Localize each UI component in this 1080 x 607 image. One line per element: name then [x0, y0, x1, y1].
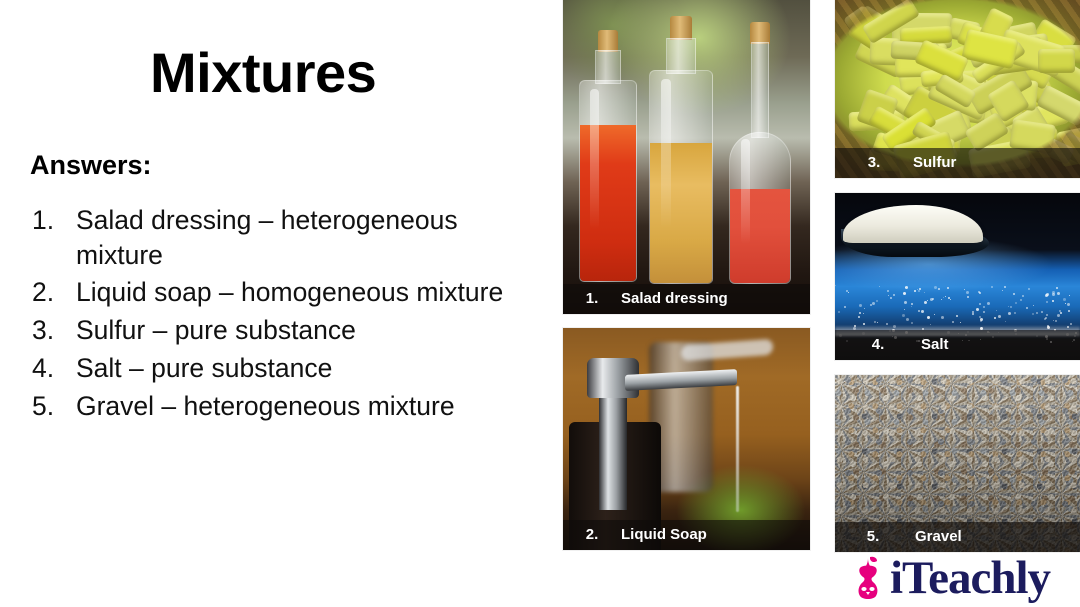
photo-salad-dressing: 1. Salad dressing [563, 0, 810, 314]
photo-caption: 4. Salt [835, 330, 1080, 360]
salad-dressing-image [563, 0, 810, 314]
caption-label: Salad dressing [621, 284, 810, 314]
photo-caption: 3. Sulfur [835, 148, 1080, 178]
page-title: Mixtures [150, 44, 376, 103]
photo-gravel: 5. Gravel [835, 375, 1080, 552]
list-item-label: Salt – pure substance [76, 351, 540, 386]
photo-caption: 2. Liquid Soap [563, 520, 810, 550]
caption-number: 2. [563, 520, 621, 550]
list-item-label: Liquid soap – homogeneous mixture [76, 275, 540, 310]
list-item-number: 4. [30, 351, 76, 386]
list-item-number: 3. [30, 313, 76, 348]
answers-list: 1. Salad dressing – heterogeneous mixtur… [30, 203, 540, 426]
list-item-label: Gravel – heterogeneous mixture [76, 389, 540, 424]
list-item-number: 2. [30, 275, 76, 310]
list-item: 2. Liquid soap – homogeneous mixture [30, 275, 540, 310]
slide-canvas: Mixtures Answers: 1. Salad dressing – he… [0, 0, 1080, 607]
logo-wordmark: iTeachly [890, 555, 1050, 602]
answers-heading: Answers: [30, 150, 152, 181]
caption-label: Sulfur [913, 148, 1080, 178]
caption-number: 3. [835, 148, 913, 178]
liquid-soap-image [563, 328, 810, 550]
caption-number: 1. [563, 284, 621, 314]
caption-label: Gravel [911, 522, 1080, 552]
caption-label: Liquid Soap [621, 520, 810, 550]
caption-label: Salt [921, 330, 1080, 360]
apple-core-icon [848, 555, 888, 601]
list-item-number: 1. [30, 203, 76, 238]
photo-salt: 4. Salt [835, 193, 1080, 360]
photo-liquid-soap: 2. Liquid Soap [563, 328, 810, 550]
list-item: 1. Salad dressing – heterogeneous mixtur… [30, 203, 540, 272]
list-item-label: Sulfur – pure substance [76, 313, 540, 348]
iteachly-logo: iTeachly [848, 552, 1063, 604]
list-item-number: 5. [30, 389, 76, 424]
caption-number: 4. [835, 330, 921, 360]
photo-caption: 1. Salad dressing [563, 284, 810, 314]
photo-sulfur: 3. Sulfur [835, 0, 1080, 178]
photo-caption: 5. Gravel [835, 522, 1080, 552]
list-item-label: Salad dressing – heterogeneous mixture [76, 203, 540, 272]
list-item: 3. Sulfur – pure substance [30, 313, 540, 348]
caption-number: 5. [835, 522, 911, 552]
list-item: 5. Gravel – heterogeneous mixture [30, 389, 540, 424]
list-item: 4. Salt – pure substance [30, 351, 540, 386]
